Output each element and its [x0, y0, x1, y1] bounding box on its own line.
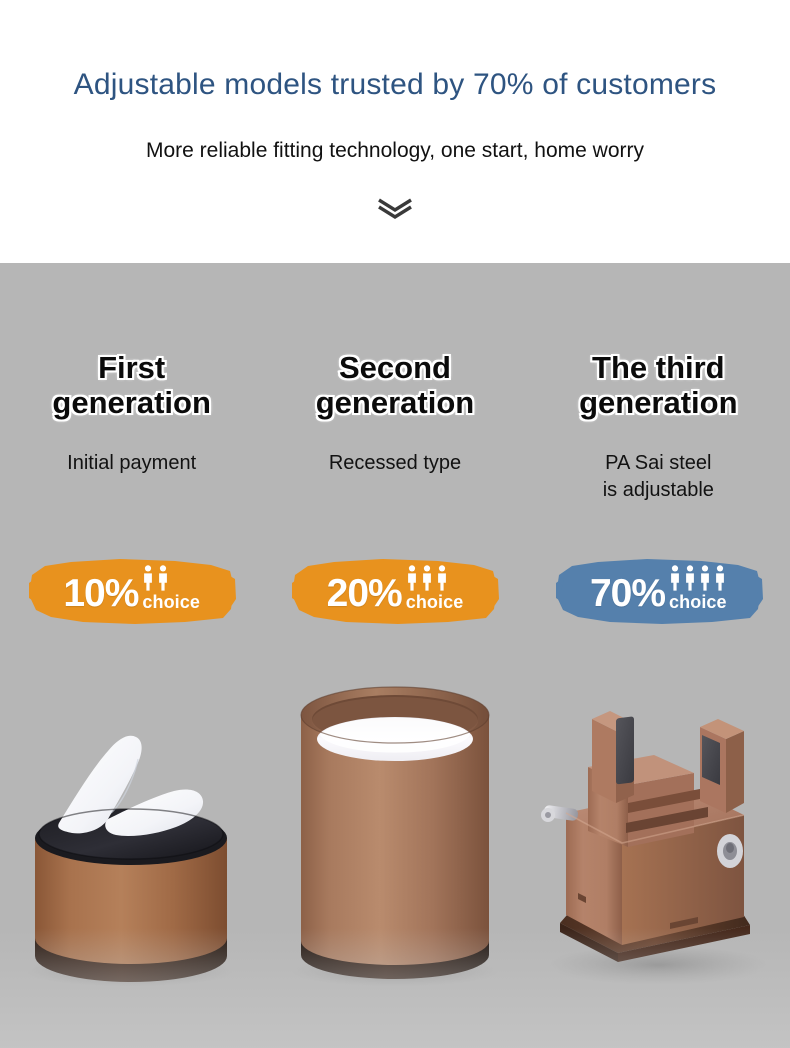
generation-title-line1: The third [527, 351, 790, 386]
percent-badge: 70% [552, 553, 765, 628]
generation-title-line2: generation [263, 386, 526, 421]
generation-title-line2: generation [527, 386, 790, 421]
generation-title-line1: Second [263, 351, 526, 386]
people-choice-group: choice [669, 565, 727, 612]
percent-value: 70% [590, 575, 665, 612]
column-second-generation: Second generation Recessed type 20% [263, 263, 526, 1048]
percent-badge: 20% [288, 553, 501, 628]
badge-container: 10% [0, 553, 263, 628]
product-image-third-generation [527, 635, 790, 995]
generation-subtitle-line1: PA Sai steel [527, 450, 790, 477]
recessed-cup-riser-illustration [275, 663, 515, 993]
generation-subtitle: PA Sai steel is adjustable [527, 450, 790, 504]
page-title: Adjustable models trusted by 70% of cust… [0, 68, 790, 102]
adjustable-clamp-riser-illustration [530, 635, 786, 995]
person-icon [714, 565, 726, 591]
people-choice-group: choice [406, 565, 464, 612]
column-first-generation: First generation Initial payment 10% [0, 263, 263, 1048]
generation-title-line1: First [0, 351, 263, 386]
adjustment-knob-right [717, 834, 743, 868]
people-icons [669, 565, 726, 591]
choice-label: choice [406, 593, 464, 611]
generation-columns: First generation Initial payment 10% [0, 263, 790, 1048]
comparison-panel: First generation Initial payment 10% [0, 263, 790, 1048]
percent-badge: 10% [25, 553, 238, 628]
infographic-page: Adjustable models trusted by 70% of cust… [0, 0, 790, 1048]
badge-content: 70% [590, 565, 727, 616]
people-icons [142, 565, 169, 591]
person-icon [684, 565, 696, 591]
generation-subtitle: Initial payment [0, 450, 263, 477]
person-icon [157, 565, 169, 591]
generation-title: First generation [0, 351, 263, 420]
percent-value: 10% [63, 575, 138, 612]
people-choice-group: choice [142, 565, 200, 612]
badge-content: 20% [327, 565, 464, 616]
people-icons [406, 565, 448, 591]
percent-value: 20% [327, 575, 402, 612]
double-chevron-down-icon [373, 196, 417, 227]
scroll-hint [0, 196, 790, 227]
adjustment-screw-left [541, 805, 579, 822]
choice-label: choice [669, 593, 727, 611]
header-section: Adjustable models trusted by 70% of cust… [0, 0, 790, 263]
badge-container: 70% [527, 553, 790, 628]
generation-subtitle: Recessed type [263, 450, 526, 477]
generation-title: The third generation [527, 351, 790, 420]
badge-content: 10% [63, 565, 200, 616]
person-icon [142, 565, 154, 591]
badge-container: 20% [263, 553, 526, 628]
choice-label: choice [142, 593, 200, 611]
person-icon [421, 565, 433, 591]
column-third-generation: The third generation PA Sai steel is adj… [527, 263, 790, 1048]
product-image-first-generation [0, 693, 263, 993]
product-image-second-generation [263, 663, 526, 993]
generation-title: Second generation [263, 351, 526, 420]
person-icon [436, 565, 448, 591]
generation-subtitle-line2: is adjustable [527, 477, 790, 504]
round-adhesive-riser-illustration [12, 693, 252, 993]
person-icon [406, 565, 418, 591]
page-subtitle: More reliable fitting technology, one st… [0, 139, 790, 163]
generation-title-line2: generation [0, 386, 263, 421]
person-icon [669, 565, 681, 591]
person-icon [699, 565, 711, 591]
